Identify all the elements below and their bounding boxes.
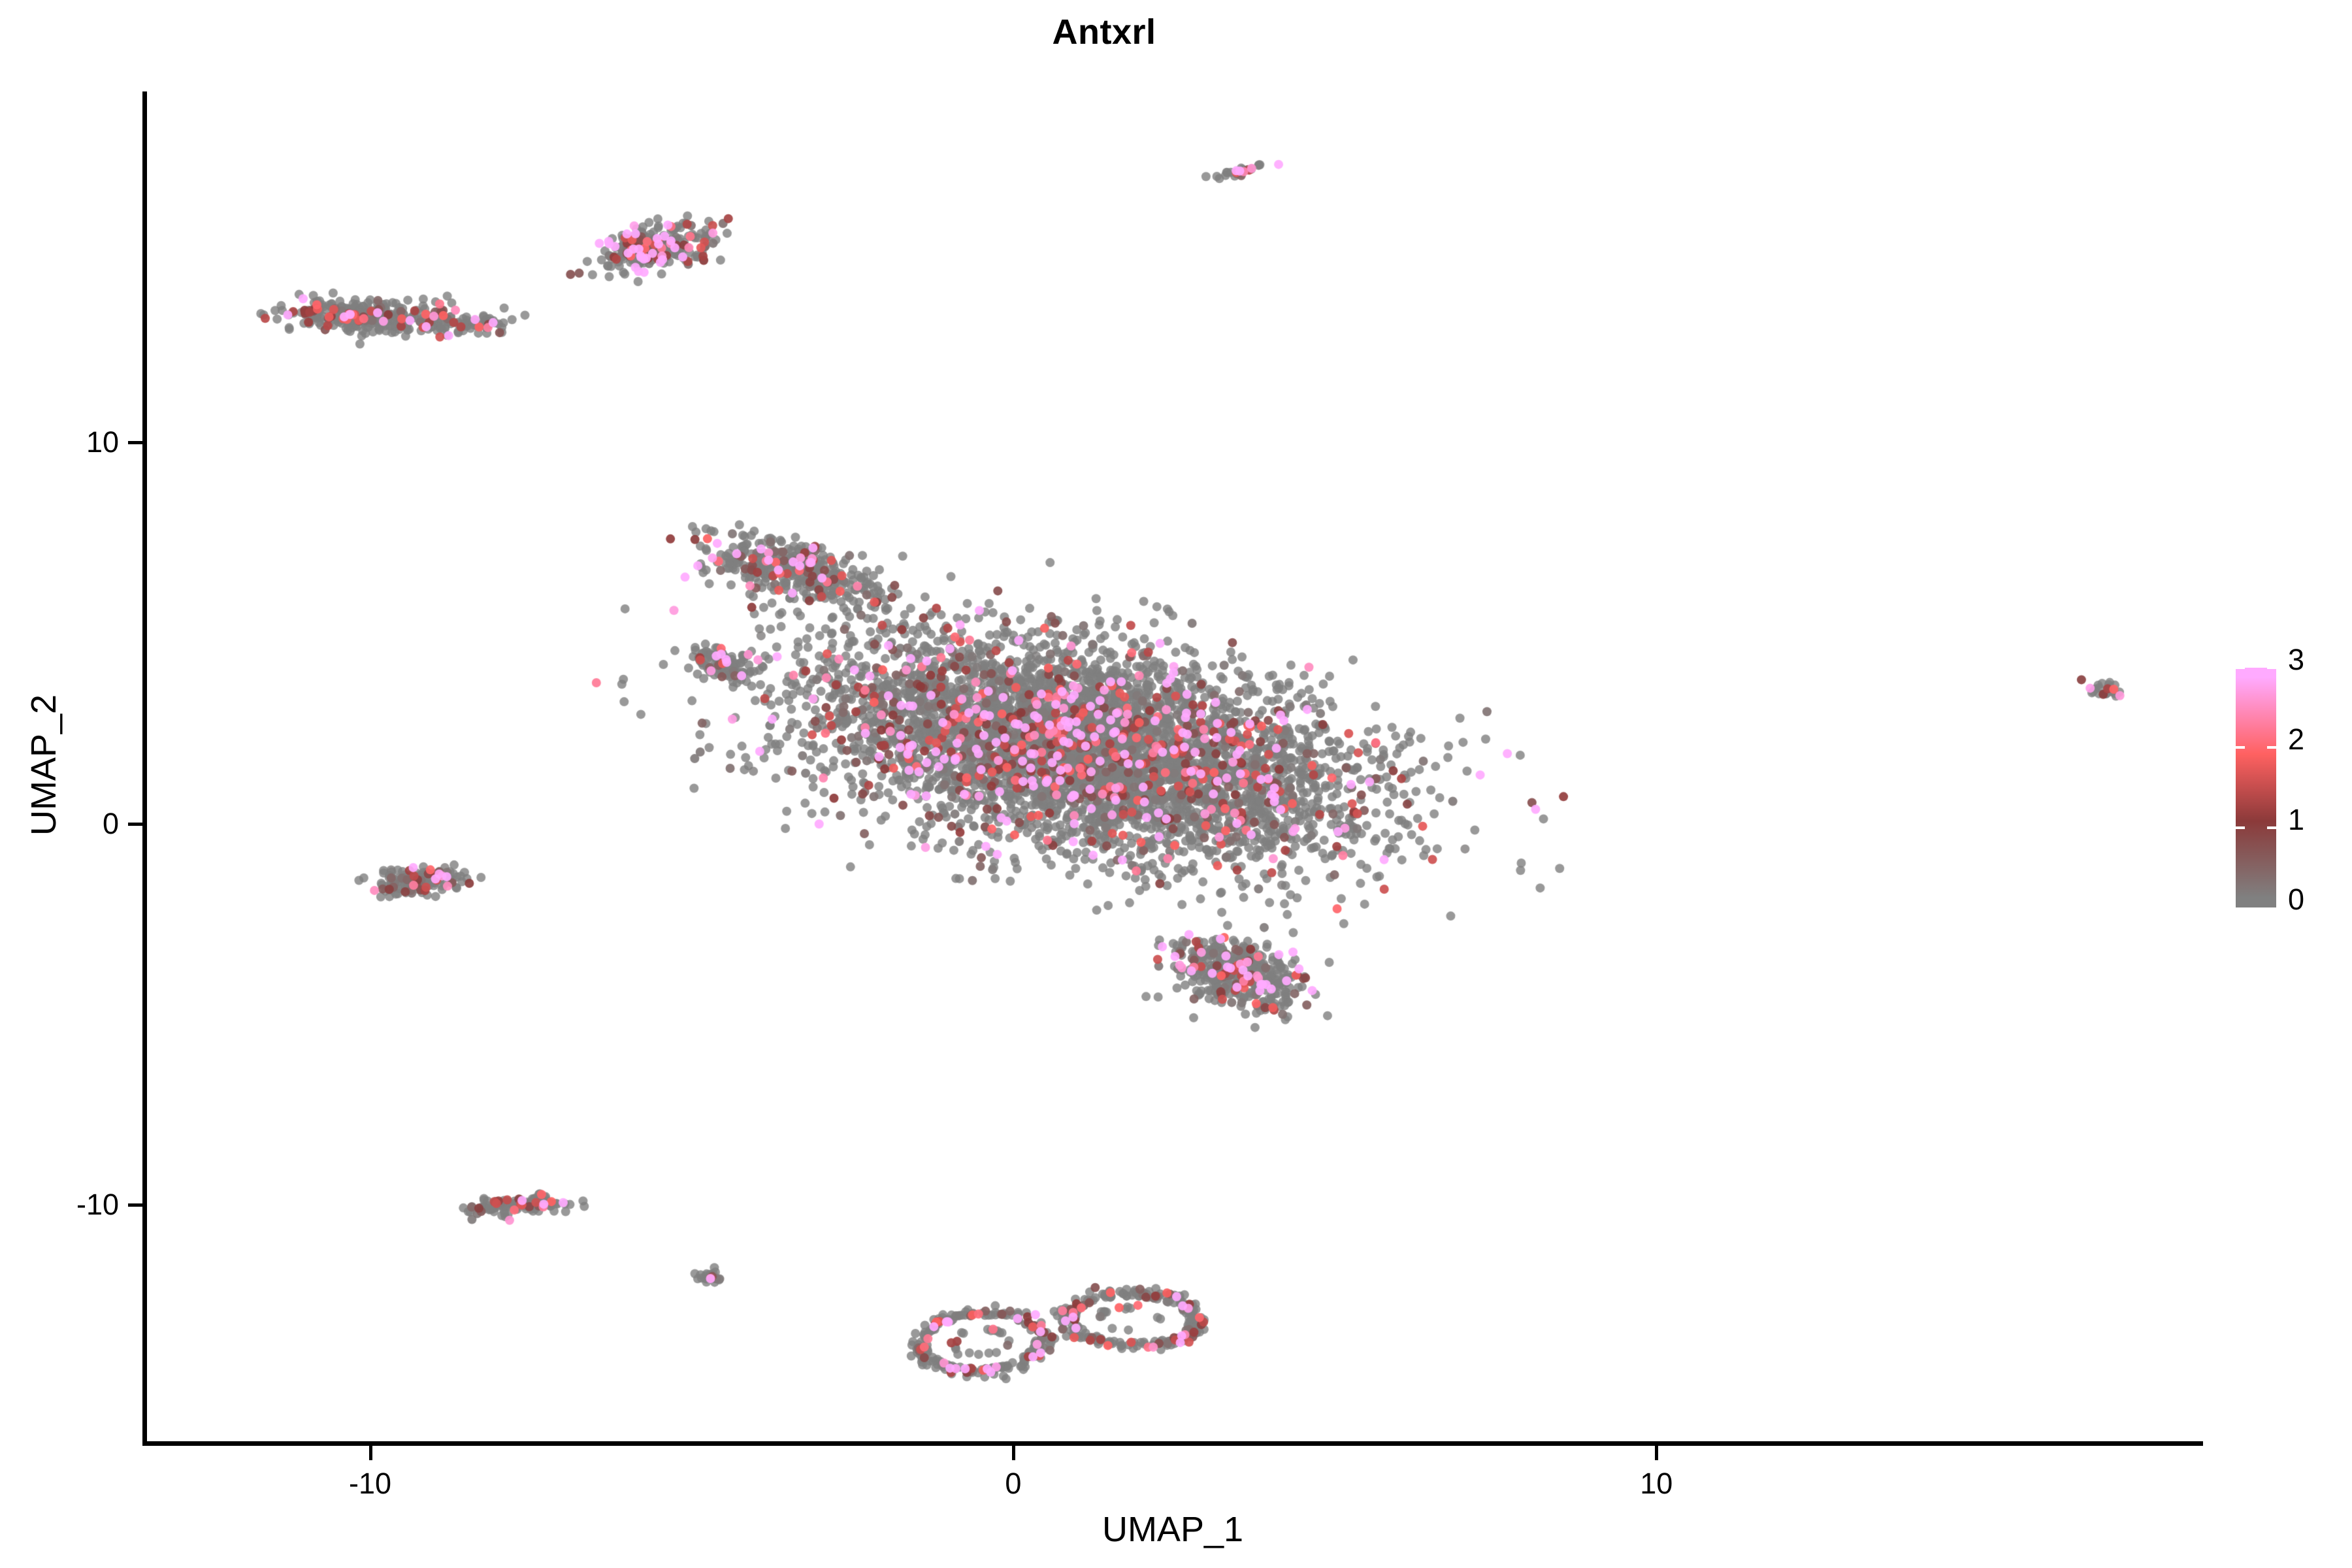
y-tick-label: -10 bbox=[76, 1188, 119, 1222]
legend-tick-mark bbox=[2267, 746, 2276, 749]
x-axis-line bbox=[142, 1441, 2203, 1446]
x-tick-mark bbox=[1655, 1446, 1658, 1460]
page-title: Antxrl bbox=[0, 12, 2208, 52]
x-tick-mark bbox=[1012, 1446, 1015, 1460]
x-tick-label: -10 bbox=[349, 1467, 391, 1501]
y-axis-title: UMAP_2 bbox=[24, 667, 64, 863]
y-axis-line bbox=[142, 91, 147, 1446]
y-tick-label: 10 bbox=[86, 425, 119, 459]
x-tick-label: 10 bbox=[1640, 1467, 1673, 1501]
x-axis-title: UMAP_1 bbox=[142, 1509, 2203, 1550]
legend-tick-mark bbox=[2267, 826, 2276, 829]
legend-tick-mark bbox=[2236, 826, 2245, 829]
legend-tick-mark bbox=[2236, 746, 2245, 749]
legend-label: 0 bbox=[2288, 883, 2304, 917]
y-tick-label: 0 bbox=[103, 807, 119, 841]
legend-colorbar bbox=[2236, 668, 2276, 907]
x-tick-label: 0 bbox=[1005, 1467, 1021, 1501]
legend-label: 2 bbox=[2288, 723, 2304, 757]
scatter-plot-canvas bbox=[145, 91, 2203, 1441]
legend-label: 3 bbox=[2288, 643, 2304, 677]
y-tick-mark bbox=[128, 441, 142, 444]
legend-tick-mark bbox=[2267, 666, 2276, 669]
umap-feature-plot: Antxrl 100-10-10010 UMAP_2 UMAP_1 3210 bbox=[0, 0, 2352, 1568]
y-tick-mark bbox=[128, 823, 142, 826]
color-legend: 3210 bbox=[2236, 668, 2334, 909]
y-tick-mark bbox=[128, 1203, 142, 1207]
x-tick-mark bbox=[369, 1446, 372, 1460]
legend-label: 1 bbox=[2288, 803, 2304, 837]
legend-tick-mark bbox=[2236, 666, 2245, 669]
